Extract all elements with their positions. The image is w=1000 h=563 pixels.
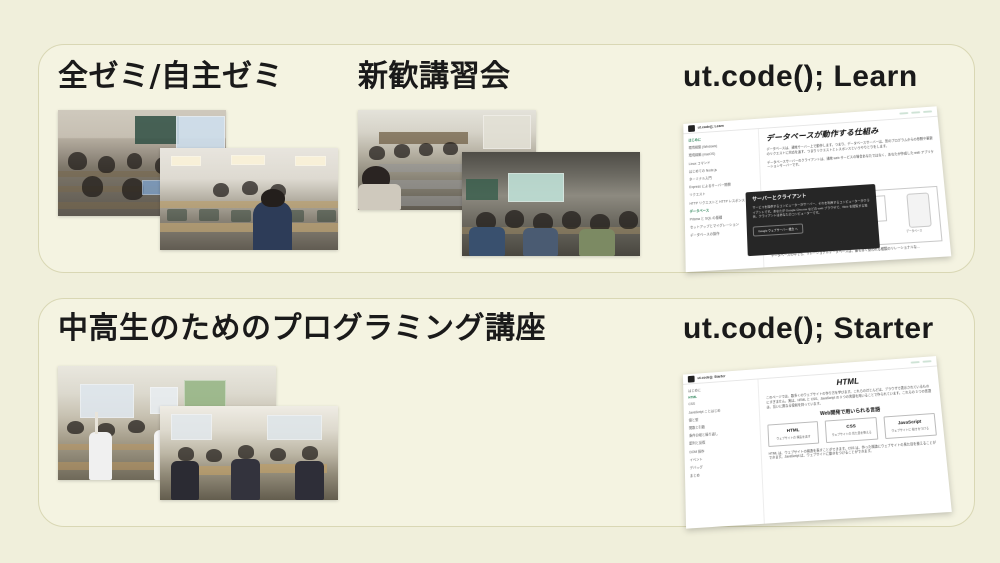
learn-nav-links[interactable] <box>899 110 932 115</box>
language-box: JavaScript ウェブサイトに 動きをつける <box>883 413 937 438</box>
photo-zemi-students <box>160 148 338 250</box>
starter-brand-label: ut.code(); Starter <box>697 374 725 380</box>
language-box: CSS ウェブサイトの 見た目を整える <box>825 417 878 442</box>
section-title-kouza: 中高生のためのプログラミング講座 <box>58 314 546 344</box>
photo-kouza-groupwork <box>160 406 338 500</box>
screenshot-utcode-starter: ut.code(); Starter はじめに HTML CSS JavaScr… <box>683 356 952 529</box>
starter-nav-links[interactable] <box>911 360 932 364</box>
language-desc: ウェブサイトの 構造を表す <box>771 434 816 441</box>
starter-doc-page: ut.code(); Starter はじめに HTML CSS JavaScr… <box>683 356 952 529</box>
language-name: CSS <box>828 422 874 430</box>
starter-sidebar-item[interactable]: まとめ <box>690 469 758 478</box>
language-desc: ウェブサイトに 動きをつける <box>887 426 933 433</box>
callout-button[interactable]: Google ウェブサーバー 概念 へ <box>753 224 803 236</box>
starter-sidebar[interactable]: はじめに HTML CSS JavaScript ことはじめ 値と型 関数と引数… <box>683 379 765 528</box>
learn-brand-label: ut.code(); Learn <box>698 124 724 130</box>
language-name: HTML <box>771 427 816 435</box>
starter-doc-content: HTML このページでは、数多くのウェブサイトの作り方を学びます。これらのほとん… <box>758 366 951 523</box>
section-title-shinkan: 新歓講習会 <box>358 62 511 92</box>
learn-doc-callout: サーバーとクライアント サービスを提供するコンピューターがサーバー、それを利用す… <box>746 184 880 256</box>
section-title-zemi: 全ゼミ/自主ゼミ <box>58 62 283 92</box>
utcode-logo-icon <box>688 375 695 382</box>
screenshot-utcode-learn: ut.code(); Learn はじめに 環境構築 (Windows) 環境構… <box>683 106 951 272</box>
section-title-learn: ut.code(); Learn <box>683 62 918 92</box>
learn-figure-label: データベース <box>906 228 922 233</box>
section-title-starter: ut.code(); Starter <box>683 314 934 344</box>
language-name: JavaScript <box>887 418 933 426</box>
language-desc: ウェブサイトの 見た目を整える <box>829 430 875 437</box>
utcode-logo-icon <box>688 125 695 132</box>
language-box: HTML ウェブサイトの 構造を表す <box>767 421 819 446</box>
photo-shinkan-lecture <box>462 152 640 256</box>
learn-doc-page: ut.code(); Learn はじめに 環境構築 (Windows) 環境構… <box>683 106 951 272</box>
slide-canvas: 全ゼミ/自主ゼミ 新歓講習会 ut.code(); Learn <box>0 0 1000 563</box>
